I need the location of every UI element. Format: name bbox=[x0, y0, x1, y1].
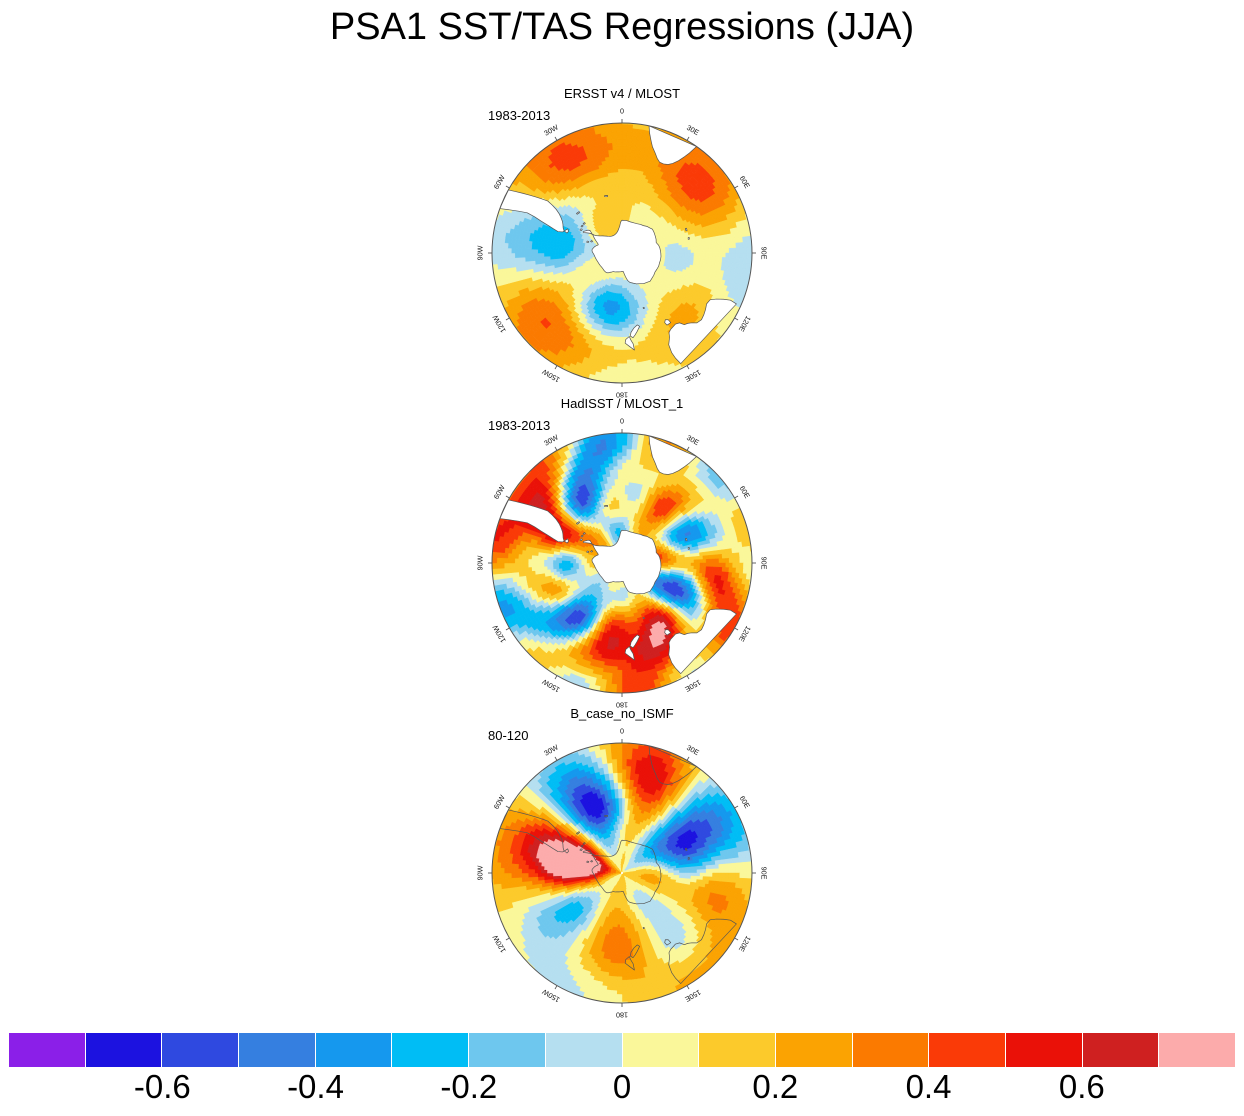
colorbar-cell-15 bbox=[1159, 1033, 1235, 1067]
lon-label-30E: 30E bbox=[685, 123, 701, 137]
lon-label-30W: 30W bbox=[542, 432, 559, 447]
lon-label-60W: 60W bbox=[492, 793, 507, 810]
lon-label-60E: 60E bbox=[738, 794, 752, 810]
colorbar-cell-8 bbox=[623, 1033, 700, 1067]
page-title: PSA1 SST/TAS Regressions (JJA) bbox=[0, 6, 1244, 49]
lon-label-60E: 60E bbox=[738, 484, 752, 500]
lon-label-90E: 90E bbox=[759, 247, 768, 260]
lon-label-90W: 90W bbox=[476, 245, 485, 260]
figure-canvas: PSA1 SST/TAS Regressions (JJA) ERSST v4 … bbox=[0, 0, 1244, 1116]
colorbar-cell-1 bbox=[86, 1033, 163, 1067]
colorbar-tick-0.2: 0.2 bbox=[752, 1068, 798, 1106]
colorbar-tick-labels: -0.6-0.4-0.200.20.40.6 bbox=[0, 1068, 1244, 1114]
colorbar-tick-0: 0 bbox=[613, 1068, 631, 1106]
lon-label-30E: 30E bbox=[685, 433, 701, 447]
lon-label-60W: 60W bbox=[492, 173, 507, 190]
lon-label-120E: 120E bbox=[737, 624, 753, 643]
panel-title-2: B_case_no_ISMF bbox=[0, 706, 1244, 721]
lon-label-30E: 30E bbox=[685, 743, 701, 757]
colorbar-cell-0 bbox=[9, 1033, 86, 1067]
polar-map-1: 030E60E90E120E150E180150W120W90W60W30W bbox=[472, 413, 772, 713]
colorbar-cell-14 bbox=[1083, 1033, 1160, 1067]
lon-label-150E: 150E bbox=[683, 368, 702, 384]
lon-label-150E: 150E bbox=[683, 988, 702, 1004]
lon-label-150E: 150E bbox=[683, 678, 702, 694]
lon-label-60W: 60W bbox=[492, 483, 507, 500]
lon-label-30W: 30W bbox=[542, 122, 559, 137]
polar-map-2: 030E60E90E120E150E180150W120W90W60W30W bbox=[472, 723, 772, 1023]
colorbar-cell-10 bbox=[776, 1033, 853, 1067]
colorbar bbox=[9, 1033, 1235, 1067]
polar-map-0: 030E60E90E120E150E180150W120W90W60W30W bbox=[472, 103, 772, 403]
lon-label-150W: 150W bbox=[540, 987, 561, 1004]
panel-title-0: ERSST v4 / MLOST bbox=[0, 86, 1244, 101]
lon-label-90W: 90W bbox=[476, 555, 485, 570]
lon-label-90E: 90E bbox=[759, 867, 768, 880]
colorbar-tick-0.4: 0.4 bbox=[906, 1068, 952, 1106]
lon-label-120W: 120W bbox=[490, 933, 507, 954]
lon-label-60E: 60E bbox=[738, 174, 752, 190]
colorbar-cell-4 bbox=[316, 1033, 393, 1067]
lon-label-0: 0 bbox=[620, 727, 624, 736]
colorbar-cell-6 bbox=[469, 1033, 546, 1067]
colorbar-tick--0.6: -0.6 bbox=[134, 1068, 191, 1106]
lon-label-0: 0 bbox=[620, 417, 624, 426]
lon-label-120E: 120E bbox=[737, 314, 753, 333]
colorbar-cell-12 bbox=[929, 1033, 1006, 1067]
colorbar-cell-3 bbox=[239, 1033, 316, 1067]
lon-label-0: 0 bbox=[620, 107, 624, 116]
colorbar-tick--0.2: -0.2 bbox=[440, 1068, 497, 1106]
lon-label-120W: 120W bbox=[490, 313, 507, 334]
colorbar-cell-2 bbox=[162, 1033, 239, 1067]
lon-label-120W: 120W bbox=[490, 623, 507, 644]
colorbar-cell-7 bbox=[546, 1033, 623, 1067]
lon-label-150W: 150W bbox=[540, 367, 561, 384]
lon-label-150W: 150W bbox=[540, 677, 561, 694]
lon-label-180: 180 bbox=[616, 1010, 628, 1019]
lon-label-90W: 90W bbox=[476, 865, 485, 880]
colorbar-tick--0.4: -0.4 bbox=[287, 1068, 344, 1106]
lon-label-90E: 90E bbox=[759, 557, 768, 570]
colorbar-cell-9 bbox=[699, 1033, 776, 1067]
colorbar-cell-13 bbox=[1006, 1033, 1083, 1067]
lon-label-120E: 120E bbox=[737, 934, 753, 953]
panel-title-1: HadISST / MLOST_1 bbox=[0, 396, 1244, 411]
colorbar-cell-11 bbox=[853, 1033, 930, 1067]
lon-label-30W: 30W bbox=[542, 742, 559, 757]
colorbar-cell-5 bbox=[392, 1033, 469, 1067]
colorbar-tick-0.6: 0.6 bbox=[1059, 1068, 1105, 1106]
